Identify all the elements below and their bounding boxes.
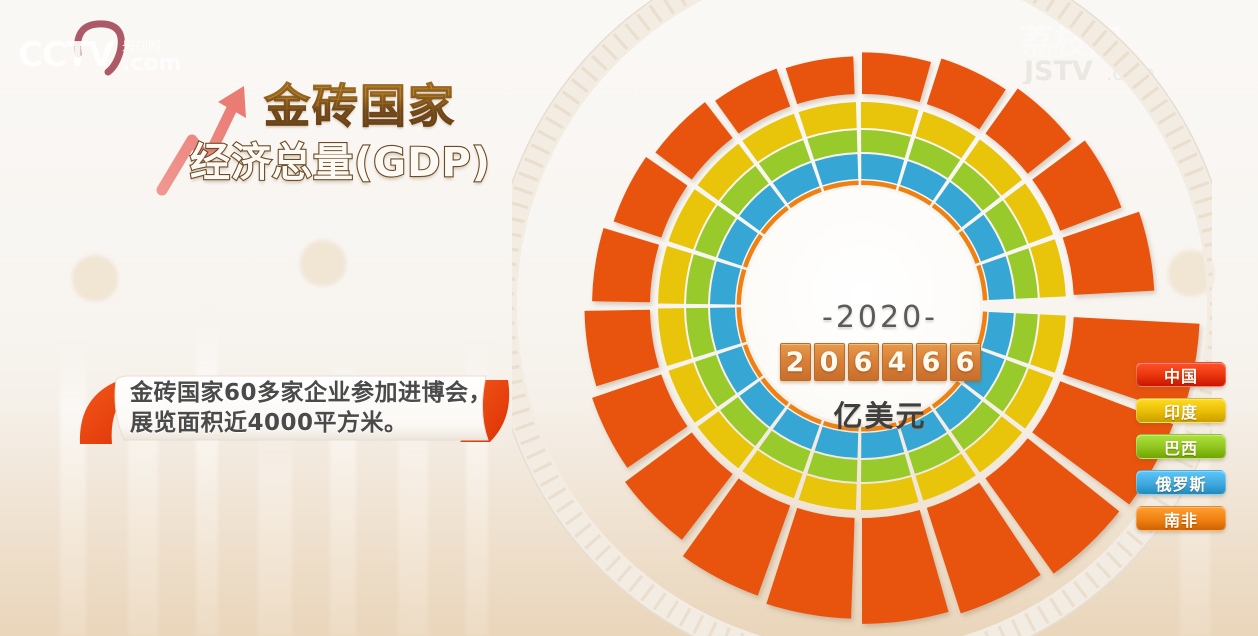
chart-center-hole	[744, 188, 980, 424]
legend-item-2[interactable]: 巴西	[1136, 434, 1226, 459]
page-title: 金砖国家 经济总量(GDP)	[152, 74, 552, 204]
callout-text: 金砖国家60多家企业参加进博会，展览面积近4000平方米。	[130, 378, 510, 439]
callout-banner: 金砖国家60多家企业参加进博会，展览面积近4000平方米。	[72, 372, 522, 450]
tick-mark	[1209, 333, 1212, 335]
chart-ring-segment	[861, 428, 904, 458]
chart-ring-segment	[861, 477, 919, 510]
tick-mark	[1210, 288, 1212, 289]
chart-ring-segment	[861, 154, 904, 184]
chart-ring-segment	[861, 454, 911, 482]
tick-mark	[512, 293, 514, 294]
tick-mark	[1210, 318, 1212, 319]
chart-ring-segment	[710, 261, 741, 304]
legend-item-3[interactable]: 俄罗斯	[1136, 470, 1226, 495]
chart-ring-segment	[861, 130, 911, 158]
legend: 中国印度巴西俄罗斯南非	[1136, 362, 1226, 531]
chart-ring-segment	[710, 308, 741, 351]
background-ornament	[72, 255, 118, 301]
legend-item-0[interactable]: 中国	[1136, 362, 1226, 387]
background-ornament	[300, 240, 346, 286]
radial-gdp-chart	[512, 0, 1212, 636]
legend-item-1[interactable]: 印度	[1136, 398, 1226, 423]
tick-mark	[512, 323, 514, 324]
chart-ring-segment	[815, 427, 858, 458]
title-main-text: 金砖国家	[264, 70, 456, 136]
chart-bar-china	[585, 310, 660, 387]
tick-mark	[1209, 273, 1212, 275]
chart-ring-segment	[815, 154, 858, 185]
tick-mark	[512, 338, 515, 340]
chart-bar-china	[862, 52, 931, 102]
title-sub-text: 经济总量(GDP)	[190, 130, 491, 188]
tick-mark	[512, 278, 515, 280]
chart-ring-segment	[861, 102, 919, 135]
chart-bar-china	[786, 56, 855, 104]
legend-item-4[interactable]: 南非	[1136, 506, 1226, 531]
chart-bar-china	[592, 228, 659, 302]
